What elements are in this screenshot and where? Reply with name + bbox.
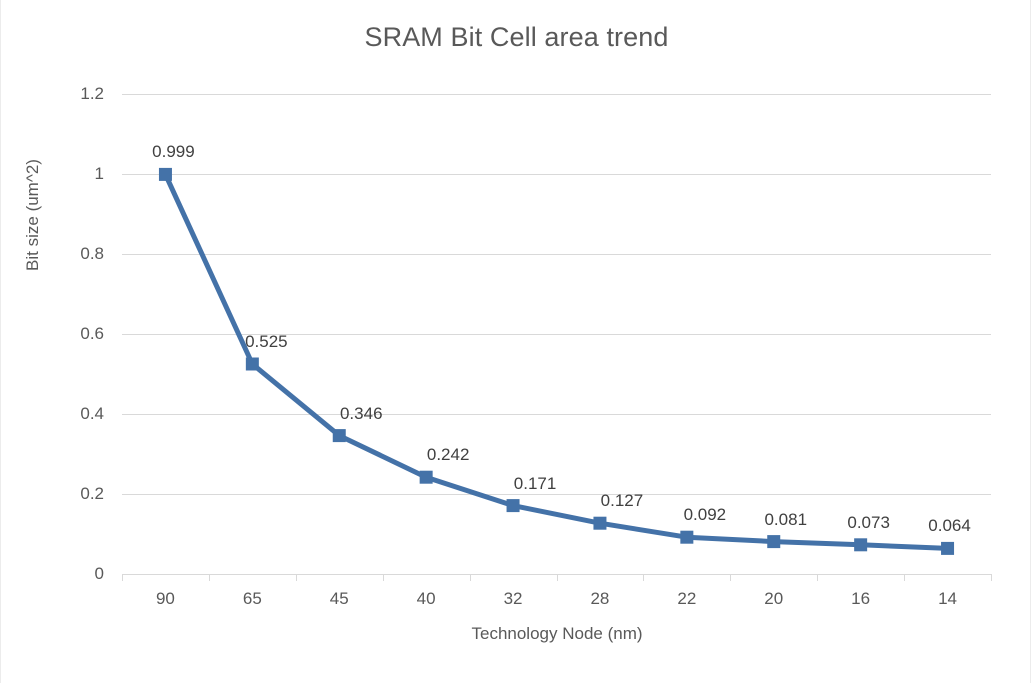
x-axis-tick-mark [817, 574, 818, 581]
data-point-label: 0.346 [340, 404, 383, 424]
gridline [122, 254, 991, 255]
gridline [122, 174, 991, 175]
data-point-label: 0.127 [601, 491, 644, 511]
x-axis-tick-mark [904, 574, 905, 581]
data-point-label: 0.073 [847, 513, 890, 533]
data-point-label: 0.171 [514, 474, 557, 494]
x-axis-tick-mark [209, 574, 210, 581]
x-axis-tick-mark [383, 574, 384, 581]
y-axis-tick-label: 0 [44, 564, 104, 584]
y-axis-tick-label: 0.2 [44, 484, 104, 504]
x-axis-tick-mark [643, 574, 644, 581]
gridline [122, 94, 991, 95]
data-point-marker[interactable] [852, 536, 870, 554]
y-axis-tick-label: 1 [44, 164, 104, 184]
gridline [122, 494, 991, 495]
data-point-label: 0.999 [152, 142, 195, 162]
x-axis-tick-mark [470, 574, 471, 581]
data-point-marker[interactable] [678, 528, 696, 546]
y-axis-title: Bit size (um^2) [23, 0, 43, 215]
y-axis-tick-label: 1.2 [44, 84, 104, 104]
y-axis-tick-labels: 00.20.40.60.811.2 [44, 0, 104, 683]
gridline [122, 414, 991, 415]
x-axis-tick-mark [296, 574, 297, 581]
data-point-label: 0.081 [764, 510, 807, 530]
x-axis-tick-mark [730, 574, 731, 581]
data-point-marker[interactable] [939, 539, 957, 557]
y-axis-tick-label: 0.6 [44, 324, 104, 344]
x-axis-tick-label: 90 [156, 589, 175, 609]
data-point-marker[interactable] [765, 533, 783, 551]
chart-container: SRAM Bit Cell area trend Bit size (um^2)… [0, 0, 1031, 683]
x-axis-tick-mark [557, 574, 558, 581]
data-point-marker[interactable] [417, 468, 435, 486]
chart-title: SRAM Bit Cell area trend [1, 22, 1031, 53]
x-axis-tick-mark [122, 574, 123, 581]
data-point-label: 0.525 [245, 332, 288, 352]
data-point-marker[interactable] [156, 165, 174, 183]
y-axis-title-label: Bit size (um^2) [23, 85, 43, 345]
x-axis-tick-label: 14 [938, 589, 957, 609]
data-point-marker[interactable] [243, 355, 261, 373]
data-point-marker[interactable] [330, 427, 348, 445]
x-axis-tick-label: 16 [851, 589, 870, 609]
x-axis-tick-label: 40 [417, 589, 436, 609]
x-axis-tick-label: 20 [764, 589, 783, 609]
data-point-marker[interactable] [504, 497, 522, 515]
x-axis-title: Technology Node (nm) [123, 624, 991, 644]
y-axis-tick-label: 0.8 [44, 244, 104, 264]
data-point-label: 0.092 [684, 505, 727, 525]
data-point-label: 0.242 [427, 445, 470, 465]
x-axis-tick-label: 65 [243, 589, 262, 609]
data-point-marker[interactable] [591, 514, 609, 532]
x-axis-tick-label: 32 [504, 589, 523, 609]
x-axis-tick-label: 45 [330, 589, 349, 609]
data-point-label: 0.064 [928, 516, 971, 536]
x-axis-tick-label: 28 [590, 589, 609, 609]
x-axis-tick-mark [991, 574, 992, 581]
x-axis-tick-label: 22 [677, 589, 696, 609]
y-axis-tick-label: 0.4 [44, 404, 104, 424]
